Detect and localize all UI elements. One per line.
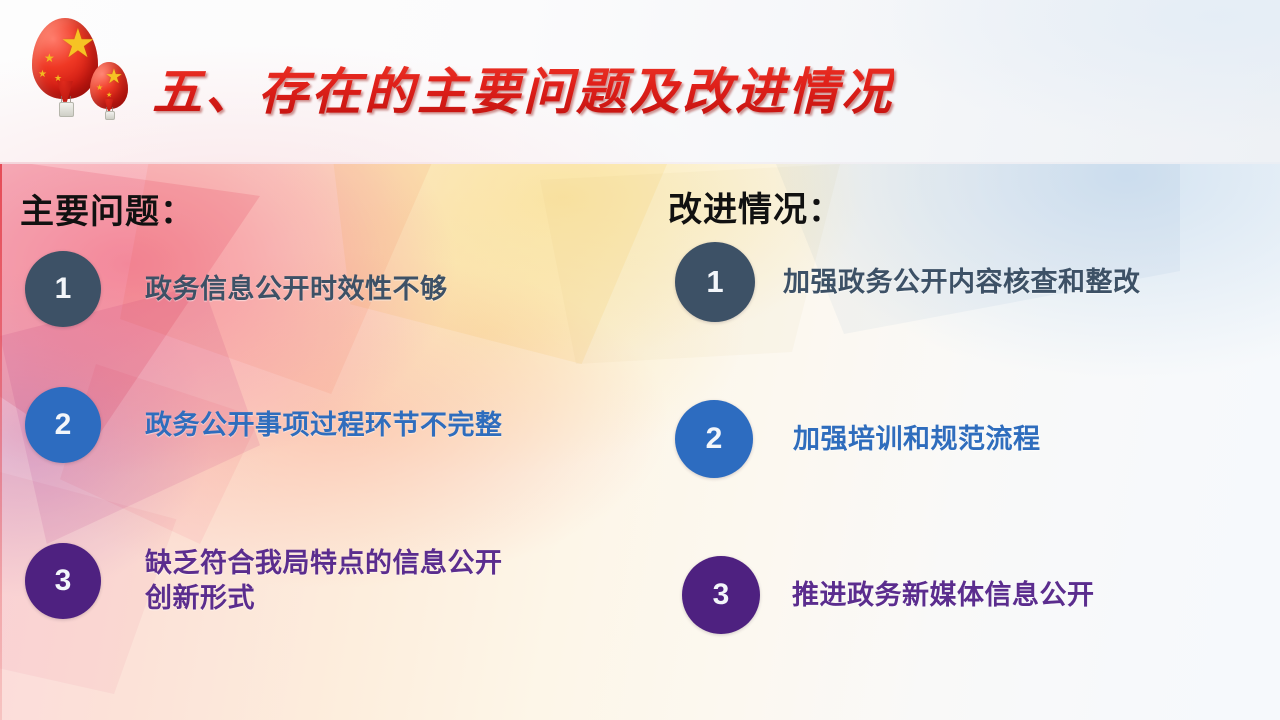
star-icon: ★ [60, 24, 96, 64]
item-number-badge: 2 [25, 387, 101, 463]
star-icon: ★ [106, 92, 112, 99]
star-icon: ★ [44, 52, 55, 64]
item-number-badge: 3 [682, 556, 760, 634]
list-item[interactable]: 1 政务信息公开时效性不够 [25, 251, 448, 327]
star-icon: ★ [54, 74, 62, 83]
balloon-basket [59, 102, 74, 117]
list-item[interactable]: 3 推进政务新媒体信息公开 [682, 556, 1095, 634]
list-item[interactable]: 2 加强培训和规范流程 [675, 400, 1041, 478]
presentation-slide: ★ ★ ★ ★ ★ ★ ★ 五、存在的主要问题及改进情况 主要问题 [0, 0, 1280, 720]
item-label: 政务信息公开时效性不够 [145, 272, 448, 307]
star-icon: ★ [38, 70, 47, 80]
list-item[interactable]: 2 政务公开事项过程环节不完整 [25, 387, 503, 463]
balloon-basket [105, 111, 115, 120]
left-column-heading: 主要问题： [20, 184, 195, 233]
item-label: 缺乏符合我局特点的信息公开 创新形式 [145, 546, 503, 615]
item-number-badge: 3 [25, 543, 101, 619]
item-number-badge: 1 [675, 242, 755, 322]
right-column-heading: 改进情况： [668, 182, 843, 231]
item-label: 政务公开事项过程环节不完整 [145, 408, 503, 443]
list-item[interactable]: 3 缺乏符合我局特点的信息公开 创新形式 [25, 543, 503, 619]
star-icon: ★ [105, 67, 123, 87]
hot-air-balloon-icon: ★ ★ ★ ★ ★ ★ ★ [28, 16, 144, 128]
star-icon: ★ [96, 84, 103, 92]
item-label: 加强政务公开内容核查和整改 [783, 265, 1141, 300]
left-edge-accent-line [0, 164, 2, 720]
list-item[interactable]: 1 加强政务公开内容核查和整改 [675, 242, 1141, 322]
item-number-badge: 2 [675, 400, 753, 478]
item-label: 推进政务新媒体信息公开 [792, 578, 1095, 613]
balloon-small-icon: ★ ★ ★ [90, 62, 128, 118]
slide-title: 五、存在的主要问题及改进情况 [152, 52, 894, 124]
item-label: 加强培训和规范流程 [793, 422, 1041, 457]
item-number-badge: 1 [25, 251, 101, 327]
balloon-large-icon: ★ ★ ★ ★ [32, 18, 98, 114]
